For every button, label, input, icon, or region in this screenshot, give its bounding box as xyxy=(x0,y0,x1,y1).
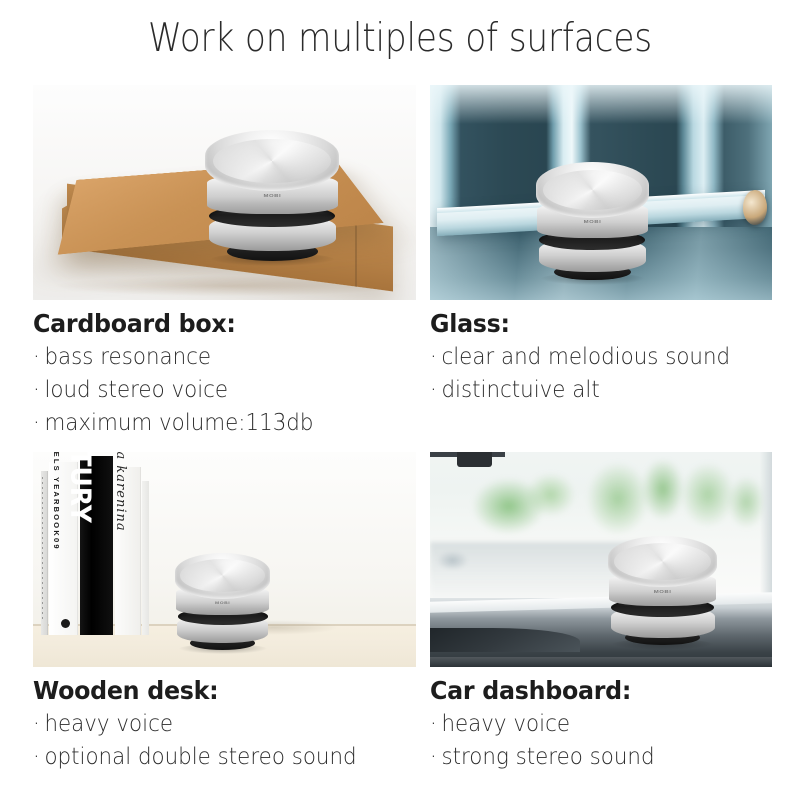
ruler xyxy=(41,471,48,635)
panel-title: Glass: xyxy=(430,308,755,339)
glass-top-glare xyxy=(430,85,772,124)
vibration-speaker-icon: MOBI xyxy=(608,536,717,648)
photo-car-dashboard: MOBI xyxy=(430,452,772,667)
car-scene-background xyxy=(430,452,772,667)
vibration-speaker-icon: MOBI xyxy=(205,130,339,263)
surface-panel-grid: MOBI Cardboard box: ·bass resonance ·lou… xyxy=(33,85,772,785)
panel-title: Cardboard box: xyxy=(33,308,397,339)
speaker-top-disc xyxy=(205,130,339,191)
list-item: ·heavy voice xyxy=(33,708,389,741)
list-item: ·maximum volume:113db xyxy=(33,407,389,440)
bullet-icon: · xyxy=(430,711,437,737)
brand-logo: MOBI xyxy=(609,589,716,594)
book-spine-title: DESIGNHOTELS YEARBOOK09 xyxy=(49,452,63,550)
list-item: ·bass resonance xyxy=(33,341,389,374)
feature-list: ·clear and melodious sound ·distinctuive… xyxy=(430,341,772,406)
photo-wooden-desk: DESIGNHOTELS YEARBOOK09 CENTURY Anna kar… xyxy=(33,452,416,667)
brand-logo: MOBI xyxy=(537,220,648,225)
caption-wooden-desk: Wooden desk: ·heavy voice ·optional doub… xyxy=(33,667,416,774)
feature-text: clear and melodious sound xyxy=(441,344,730,370)
caption-glass: Glass: ·clear and melodious sound ·disti… xyxy=(430,300,772,407)
list-item: ·strong stereo sound xyxy=(430,741,748,774)
speaker-top-disc xyxy=(175,553,271,598)
rearview-mirror-icon xyxy=(457,452,491,467)
panel-car-dashboard: MOBI Car dashboard: ·heavy voice ·strong… xyxy=(430,452,772,774)
bullet-icon: · xyxy=(430,344,437,370)
speaker-top-disc xyxy=(608,536,717,587)
bullet-icon: · xyxy=(33,410,40,436)
feature-list: ·bass resonance ·loud stereo voice ·maxi… xyxy=(33,341,416,439)
bullet-icon: · xyxy=(33,377,40,403)
photo-glass: MOBI xyxy=(430,85,772,300)
photo-cardboard-box: MOBI xyxy=(33,85,416,300)
book-spine-dot-icon xyxy=(61,619,70,628)
feature-text: heavy voice xyxy=(441,711,570,737)
dashboard-vent xyxy=(430,628,580,651)
distant-vehicle xyxy=(437,551,468,570)
panel-title: Wooden desk: xyxy=(33,675,397,706)
caption-car-dashboard: Car dashboard: ·heavy voice ·strong ster… xyxy=(430,667,772,774)
feature-text: heavy voice xyxy=(44,711,173,737)
feature-text: strong stereo sound xyxy=(441,744,654,770)
car-dashboard-surface xyxy=(430,598,772,667)
book-spine-title: CENTURY xyxy=(65,452,97,523)
book-anna-karenina: Anna karenina xyxy=(115,467,141,635)
panel-wooden-desk: DESIGNHOTELS YEARBOOK09 CENTURY Anna kar… xyxy=(33,452,416,774)
caption-cardboard-box: Cardboard box: ·bass resonance ·loud ste… xyxy=(33,300,416,439)
brand-logo: MOBI xyxy=(207,194,338,199)
book-century: CENTURY xyxy=(80,456,114,634)
bullet-icon: · xyxy=(33,744,40,770)
feature-text: bass resonance xyxy=(44,344,211,370)
book-stack: DESIGNHOTELS YEARBOOK09 CENTURY Anna kar… xyxy=(41,456,194,634)
bullet-icon: · xyxy=(430,744,437,770)
list-item: ·heavy voice xyxy=(430,708,748,741)
list-item: ·distinctuive alt xyxy=(430,374,748,407)
feature-text: maximum volume:113db xyxy=(44,410,313,436)
feature-text: optional double stereo sound xyxy=(44,744,356,770)
book-spine-title: Anna karenina xyxy=(113,452,128,532)
feature-list: ·heavy voice ·strong stereo sound xyxy=(430,708,772,773)
panel-glass: MOBI Glass: ·clear and melodious sound ·… xyxy=(430,85,772,407)
product-feature-page: Work on multiples of surfaces MOBI xyxy=(0,0,800,800)
feature-text: loud stereo voice xyxy=(44,377,228,403)
feature-list: ·heavy voice ·optional double stereo sou… xyxy=(33,708,416,773)
speaker-top-disc xyxy=(536,162,649,217)
page-title: Work on multiples of surfaces xyxy=(48,16,752,61)
car-a-pillar xyxy=(760,452,772,615)
panel-title: Car dashboard: xyxy=(430,675,755,706)
bullet-icon: · xyxy=(430,377,437,403)
vibration-speaker-icon: MOBI xyxy=(536,162,649,282)
bullet-icon: · xyxy=(33,344,40,370)
feature-text: distinctuive alt xyxy=(441,377,599,403)
book-extra xyxy=(142,481,150,634)
panel-cardboard-box: MOBI Cardboard box: ·bass resonance ·lou… xyxy=(33,85,416,439)
dashboard-highlight xyxy=(430,657,772,667)
list-item: ·clear and melodious sound xyxy=(430,341,748,374)
vibration-speaker-icon: MOBI xyxy=(175,553,271,652)
list-item: ·optional double stereo sound xyxy=(33,741,389,774)
list-item: ·loud stereo voice xyxy=(33,374,389,407)
brand-logo: MOBI xyxy=(176,601,270,606)
bullet-icon: · xyxy=(33,711,40,737)
glass-shelf-fitting xyxy=(743,190,767,224)
